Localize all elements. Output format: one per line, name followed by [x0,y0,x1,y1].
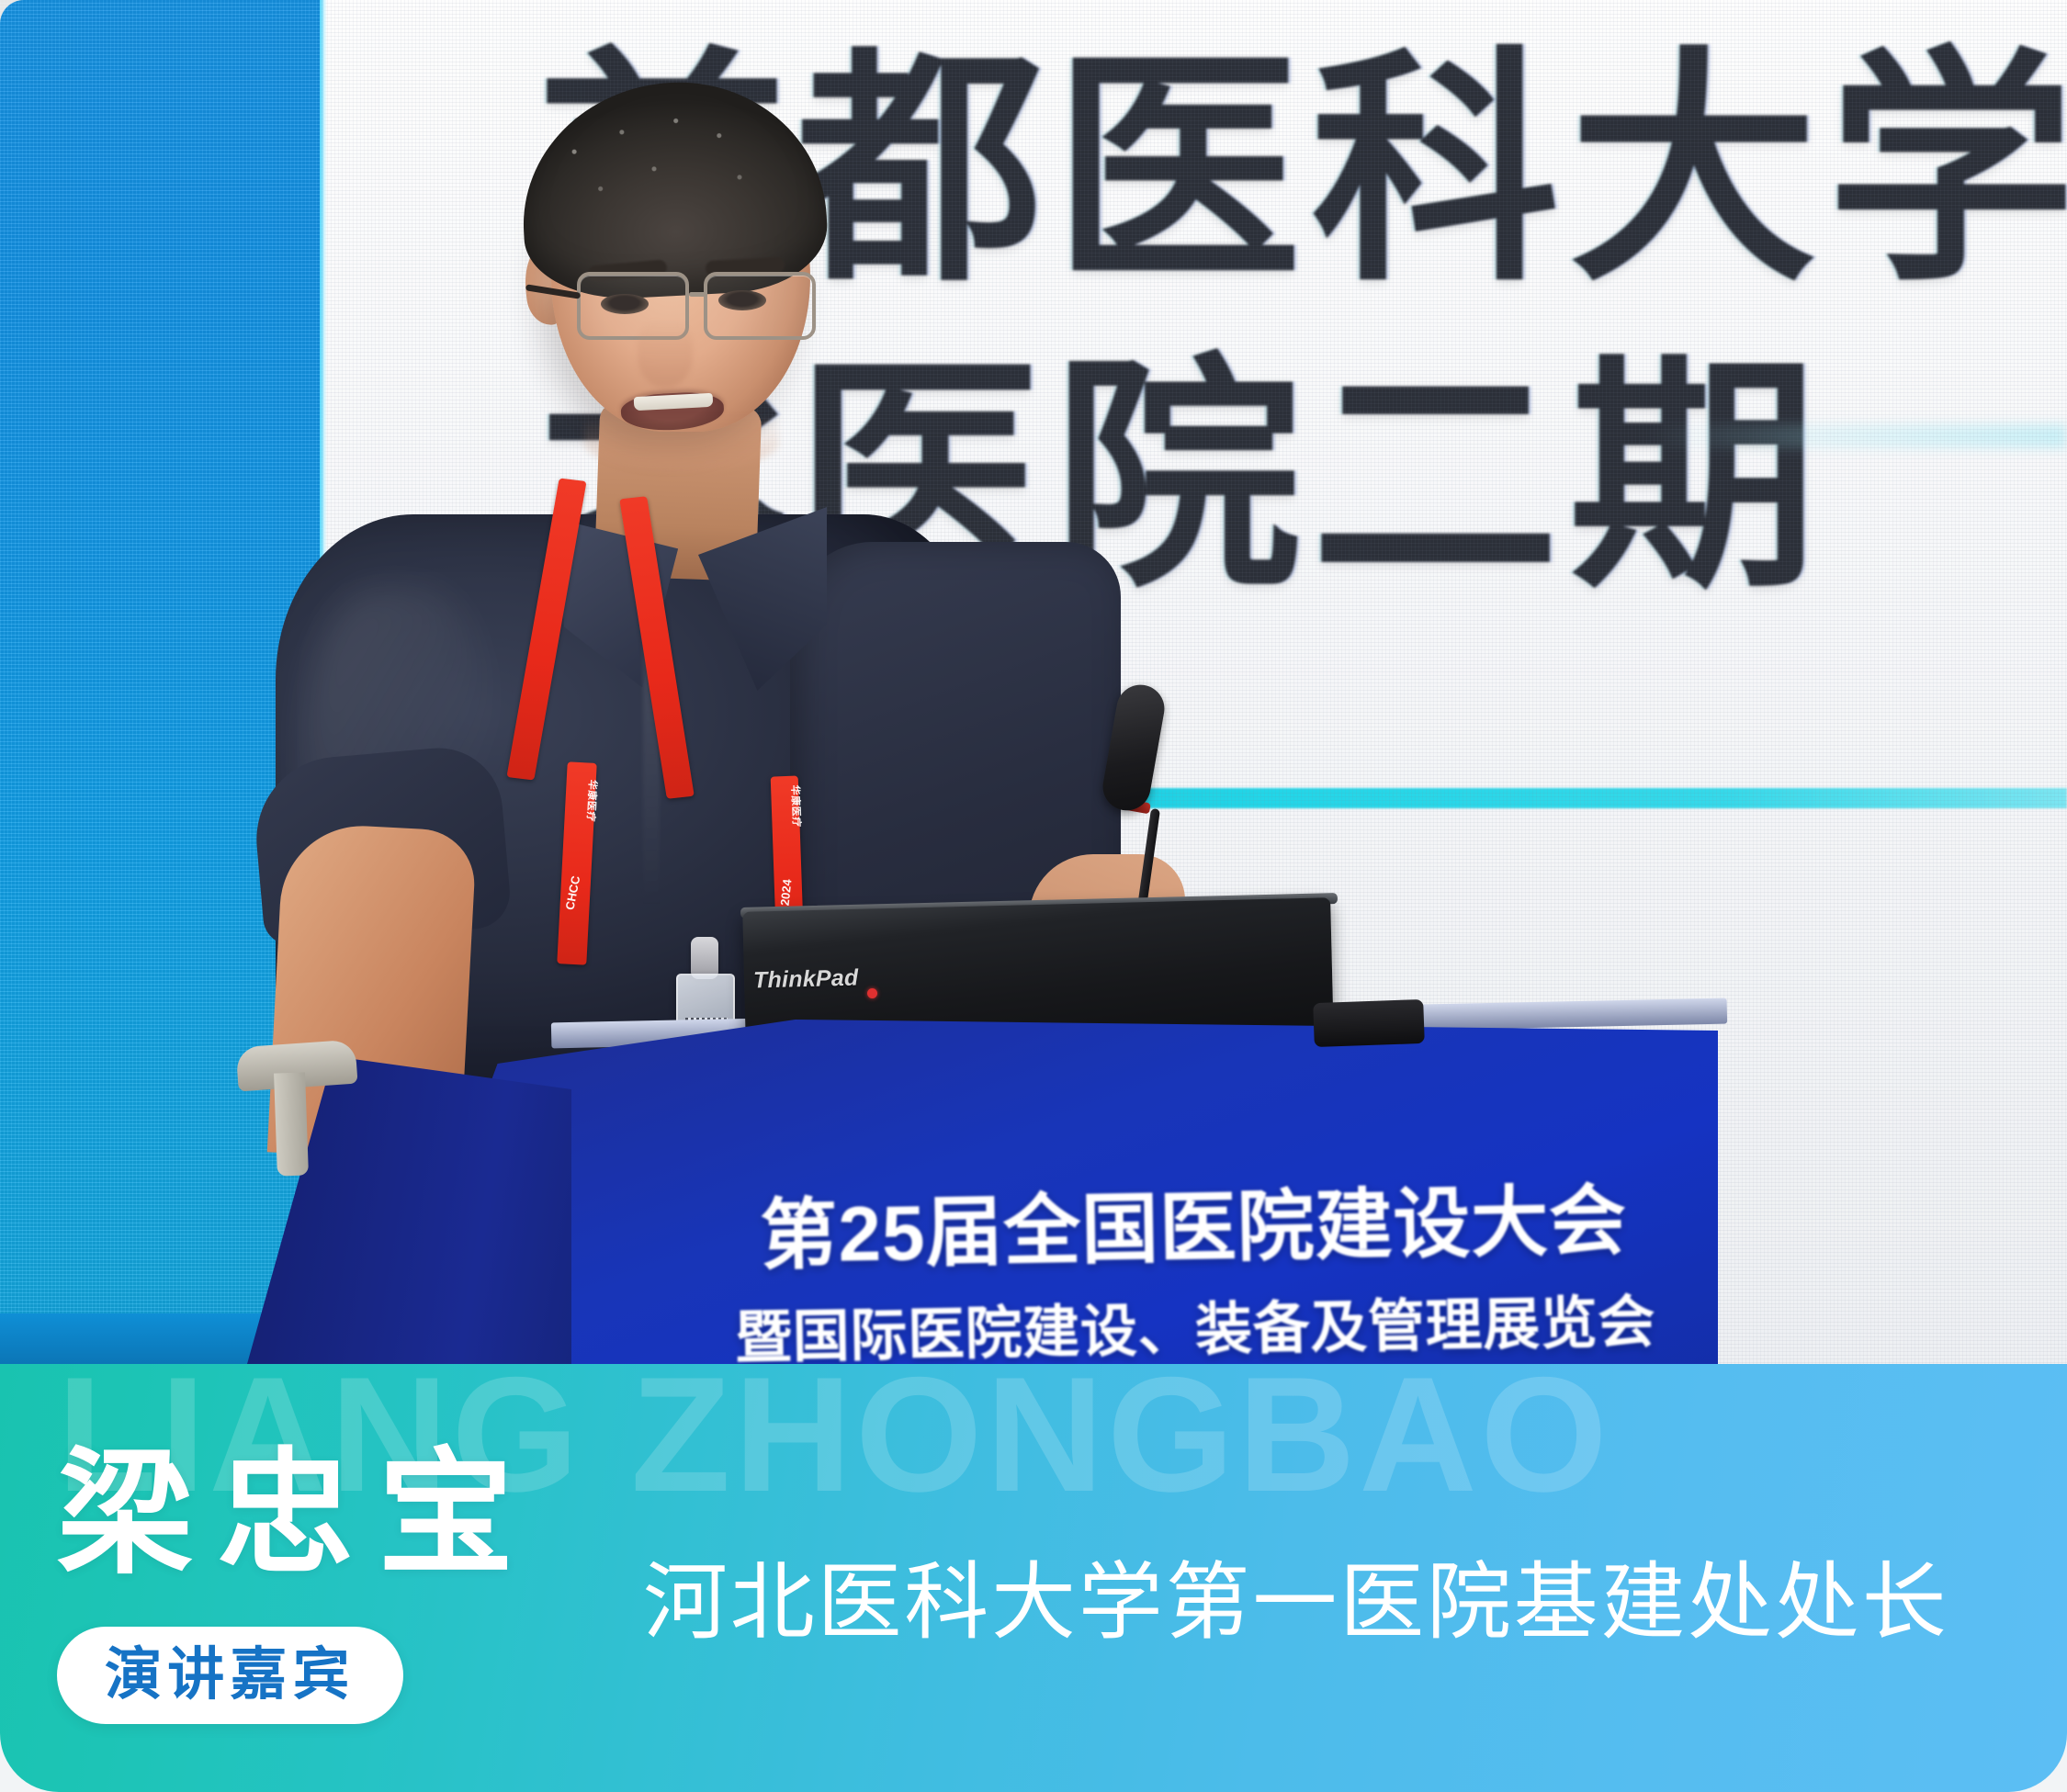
glasses-bridge [689,292,707,297]
speaker-photo-card: 首都医科大学 北医院二期 [0,0,2067,1792]
chin-shadow [584,415,779,470]
podium-corner-trim-lower [274,1072,309,1176]
lanyard-event-code-label: CHCC [563,874,582,911]
nose [638,320,693,388]
podium-sign-line-1: 第25届全国医院建设大会 [696,1158,1690,1287]
thinkpad-logo: ThinkPad [753,965,859,995]
lanyard-brand-label-2: 华康医疗 [788,784,801,828]
thinkpad-logo-dot [867,988,877,998]
podium-sign-line-2: 暨国际医院建设、装备及管理展览会 [698,1275,1691,1375]
speaker-title: 河北医科大学第一医院基建处处长 [643,1561,1948,1645]
lens-right [704,272,816,340]
lanyard-brand-label: 华康医疗 [584,779,598,822]
eyeglasses [564,272,830,342]
speaker-role-badge: 演讲嘉宾 [57,1627,403,1724]
speaker-info-banner: LIANG ZHONGBAO 梁忠宝 演讲嘉宾 河北医科大学第一医院基建处处长 [0,1364,2067,1792]
lanyard-year-label: 2024 [779,879,795,907]
podium-signage: 第25届全国医院建设大会 暨国际医院建设、装备及管理展览会 Hospital C… [696,1158,1692,1387]
speaker-name: 梁忠宝 [57,1447,538,1583]
speaker-role-label: 演讲嘉宾 [105,1647,356,1704]
microphone-base [1313,999,1425,1047]
